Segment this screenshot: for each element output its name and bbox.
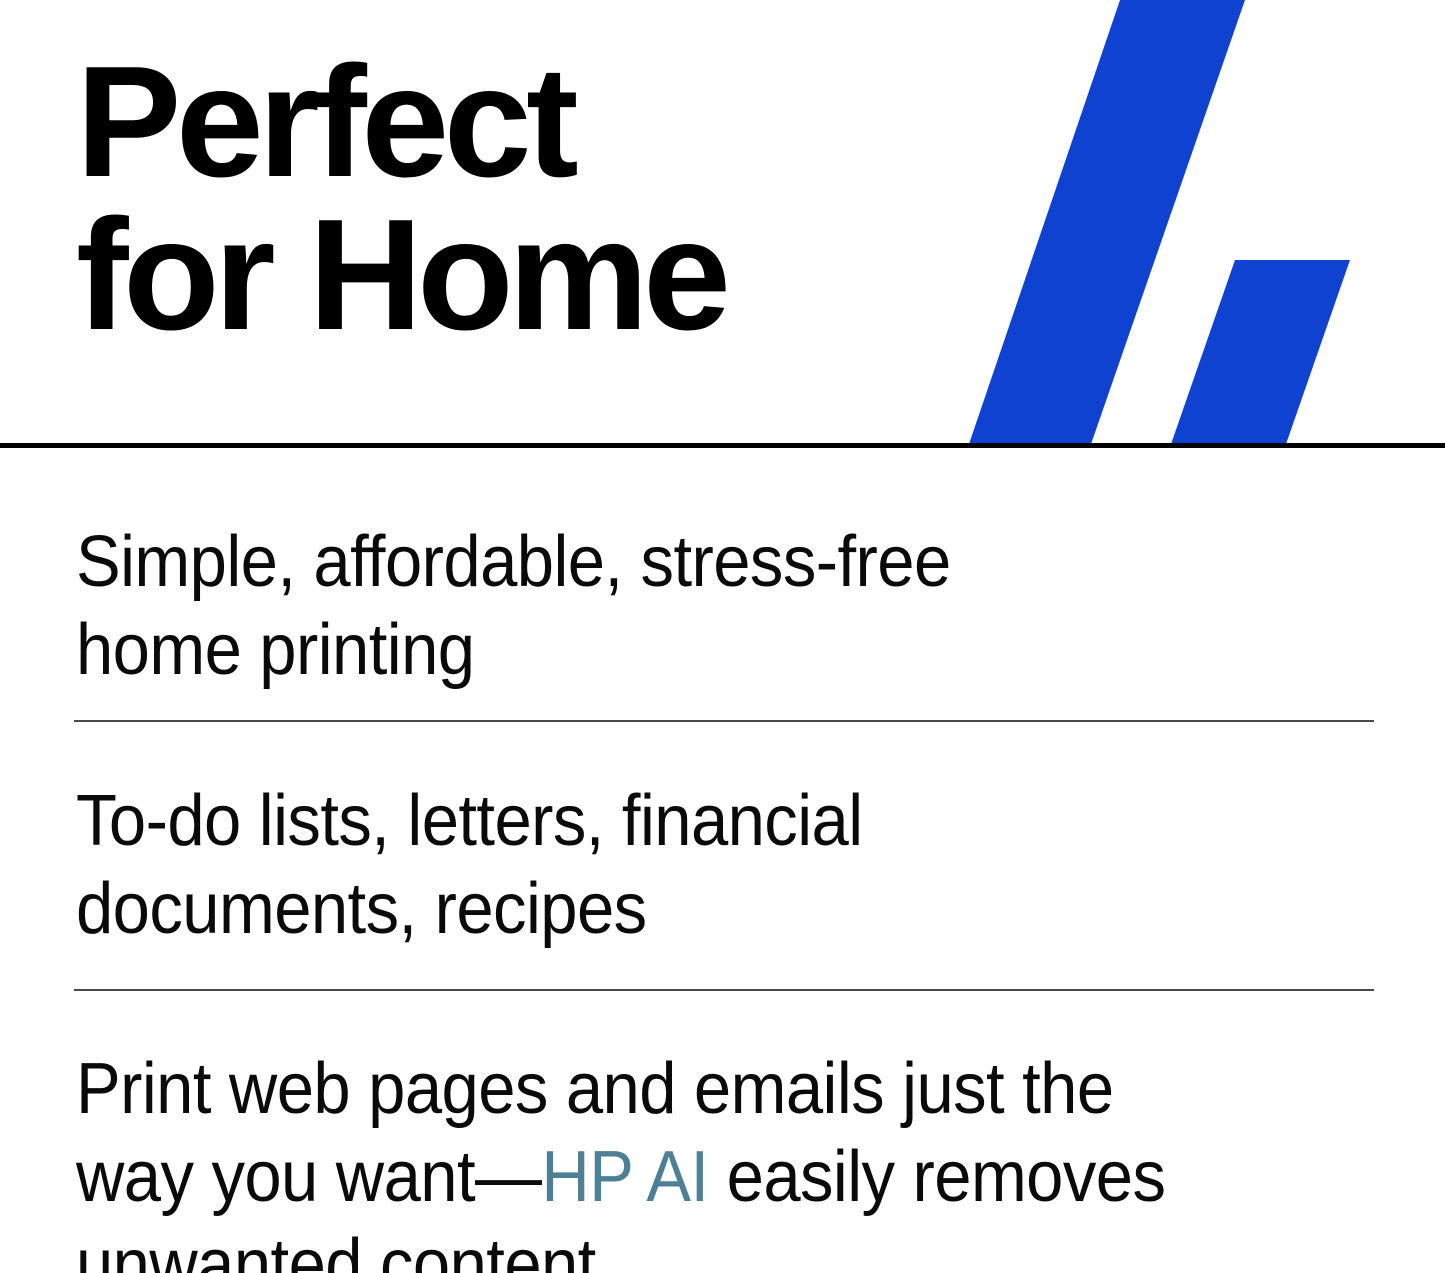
hp-diagonal-stripes-icon xyxy=(940,0,1445,447)
feature-text-web-email-printing: Print web pages and emails just the way … xyxy=(76,1046,1276,1273)
marketing-infographic-page: Perfect for Home Simple, affordable, str… xyxy=(0,0,1445,1273)
stripe-short xyxy=(1170,260,1350,447)
divider-1 xyxy=(74,720,1374,722)
hero-section: Perfect for Home xyxy=(0,0,1445,447)
heavy-divider xyxy=(0,443,1445,448)
feature-text-document-types: To-do lists, letters, financial document… xyxy=(76,778,1276,954)
divider-2 xyxy=(74,989,1374,991)
hp-ai-highlight: HP AI xyxy=(541,1137,708,1217)
stripe-tall xyxy=(968,0,1245,447)
feature-text-home-printing: Simple, affordable, stress-free home pri… xyxy=(76,519,1276,695)
page-title: Perfect for Home xyxy=(76,46,936,353)
